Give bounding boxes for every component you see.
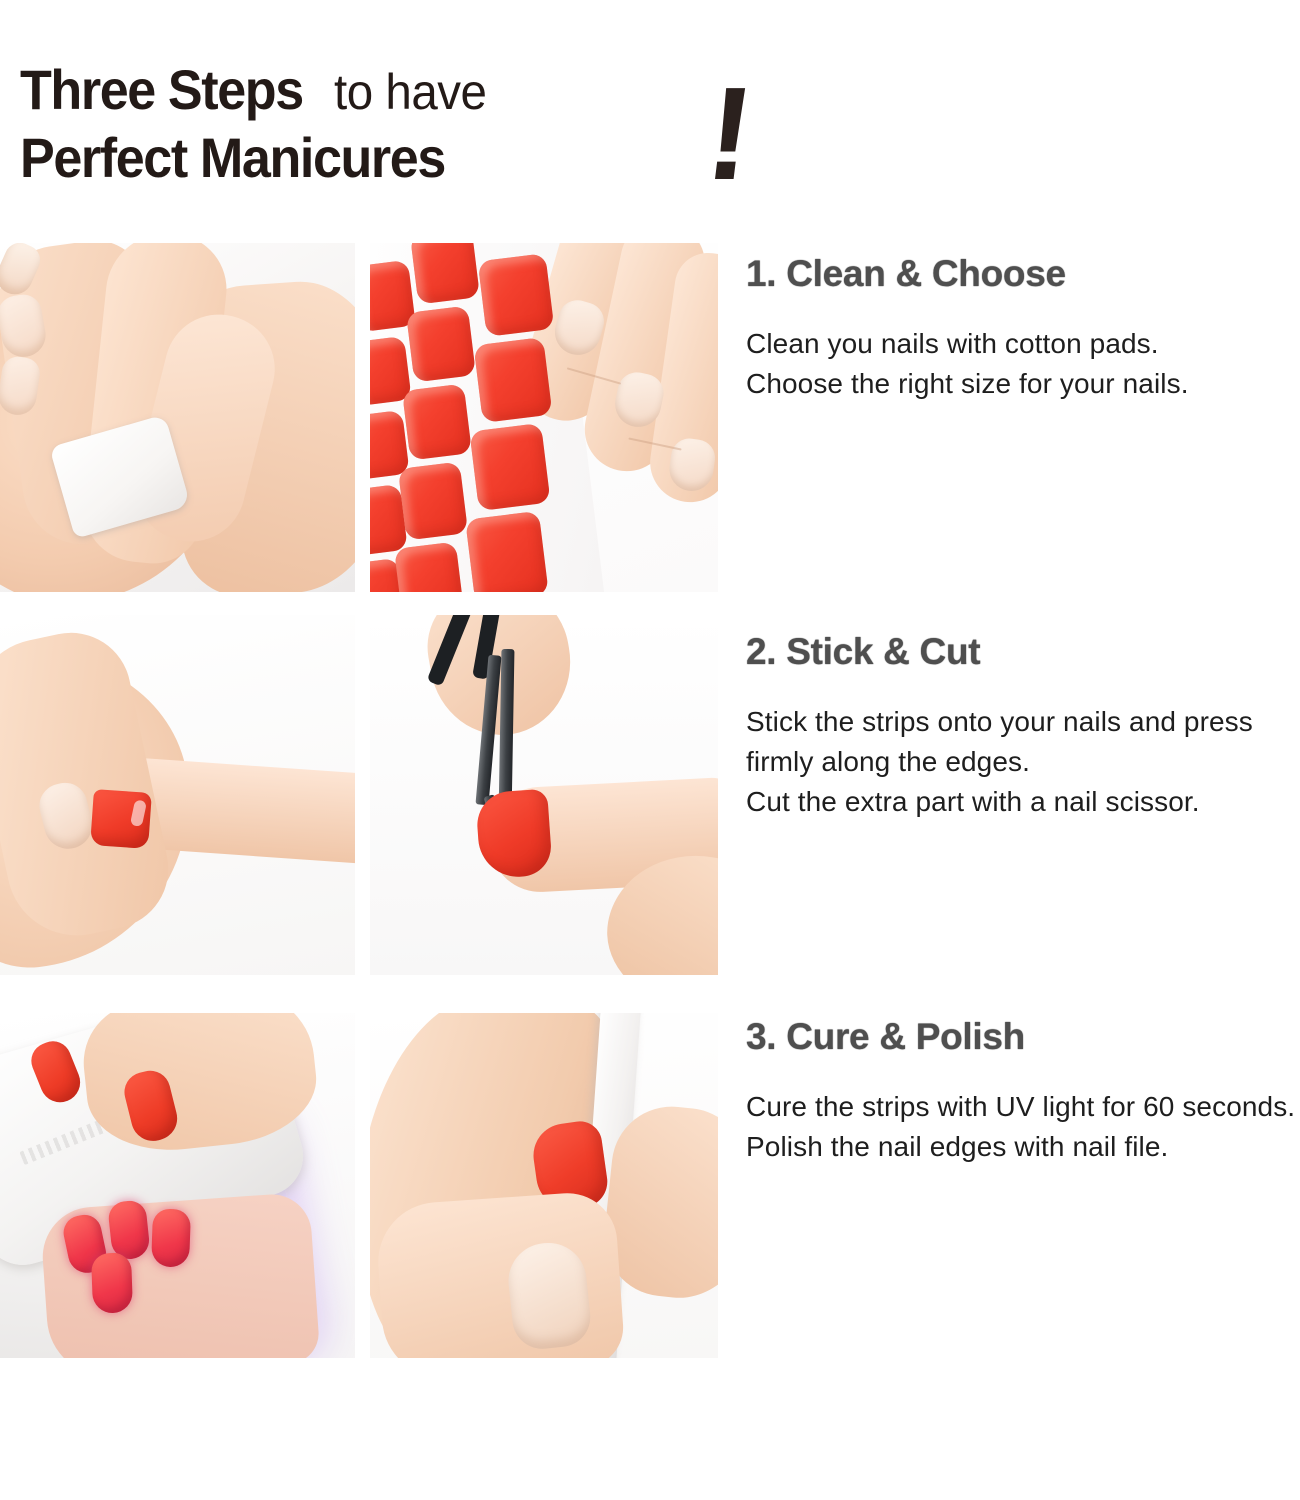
step-2: 2. Stick & Cut Stick the strips onto you… [746,633,1300,822]
step-3-body: Cure the strips with UV light for 60 sec… [746,1087,1300,1167]
step-1-body: Clean you nails with cotton pads. Choose… [746,324,1300,404]
photo-cut-with-scissor [370,615,718,975]
photo-nail-strip-sheet [370,243,718,592]
step-1: 1. Clean & Choose Clean you nails with c… [746,255,1300,404]
step-3-line-1: Cure the strips with UV light for 60 sec… [746,1087,1300,1127]
step-1-line-2: Choose the right size for your nails. [746,364,1300,404]
step-3-heading: 3. Cure & Polish [746,1018,1300,1057]
step-3: 3. Cure & Polish Cure the strips with UV… [746,1018,1300,1167]
photo-uv-lamp-curing [0,1013,355,1358]
step-2-line-1: Stick the strips onto your nails and pre… [746,702,1300,782]
photo-clean-with-cotton-pad [0,243,355,592]
title-line1-light: to have [334,67,486,117]
title-line2-strong: Perfect Manicures [20,130,445,186]
photo-stick-strip-on-nail [0,615,355,975]
step-2-line-2: Cut the extra part with a nail scissor. [746,782,1300,822]
step-1-heading: 1. Clean & Choose [746,255,1300,294]
step-3-line-2: Polish the nail edges with nail file. [746,1127,1300,1167]
red-nail-strip [90,789,152,849]
photo-polish-with-nail-file [370,1013,718,1358]
title-line1-strong: Three Steps [20,62,303,118]
step-2-heading: 2. Stick & Cut [746,633,1300,672]
step-1-line-1: Clean you nails with cotton pads. [746,324,1300,364]
infographic-page: Three Stepsto have Perfect Manicures ! [0,0,1300,1500]
page-title: Three Stepsto have Perfect Manicures [20,62,780,202]
step-2-body: Stick the strips onto your nails and pre… [746,702,1300,822]
